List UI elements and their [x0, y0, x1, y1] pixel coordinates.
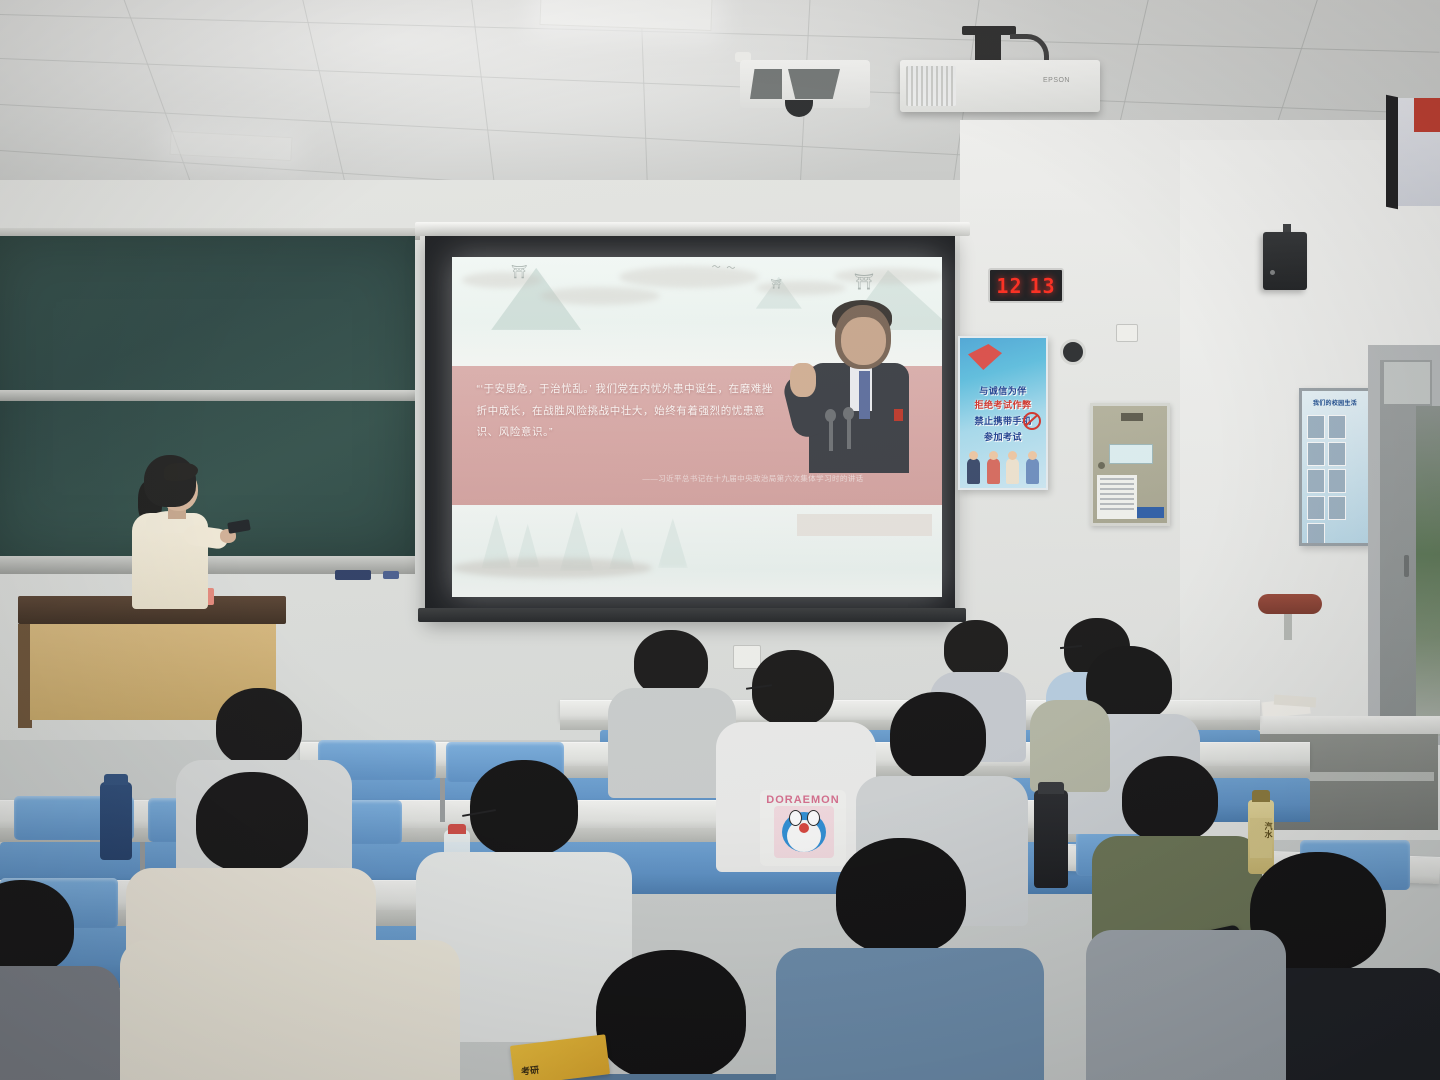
- slide-quote-text: “‘于安思危，于治忧乱。’ 我们党在内忧外患中诞生，在磨难挫折中成长，在战胜风险…: [477, 379, 781, 444]
- bottle-label-text: 汽水: [1248, 822, 1274, 838]
- portrait-microphone-icon: [843, 407, 854, 420]
- display-board-title: 我们的校园生活: [1302, 398, 1368, 407]
- portrait-microphone-icon: [825, 409, 836, 422]
- student-head: [596, 950, 746, 1080]
- side-counter-top: [1246, 716, 1440, 734]
- student-head: [470, 760, 578, 856]
- wall-display-bezel: [1386, 95, 1398, 210]
- bottle-cap-icon: [1252, 790, 1270, 802]
- student-jacket: [1086, 930, 1286, 1080]
- doraemon-text: DORAEMON: [760, 794, 846, 806]
- screen-bottom-weight-bar: [418, 608, 966, 622]
- student-shirt: [1030, 700, 1110, 792]
- student-jacket: [0, 966, 120, 1080]
- slide-speaker-portrait: [785, 305, 932, 536]
- slide-mist: [452, 558, 652, 578]
- slide-cloud-icon: [756, 281, 846, 295]
- clock-minutes: 13: [1030, 274, 1056, 298]
- projection-screen-image: ⛩ ⛩ ⛩ 〜 〜 “‘于安思危，于治忧乱。’ 我们党在内忧外患中诞生，在磨难挫…: [452, 257, 942, 597]
- student-head: [1122, 756, 1218, 842]
- ceiling-projector: EPSON: [900, 60, 1100, 112]
- slide-pagoda-icon: ⛩: [854, 272, 874, 292]
- desk-leg: [440, 778, 445, 822]
- board-photo: [1307, 469, 1325, 493]
- student-head: [836, 838, 966, 954]
- portrait-badge: [894, 409, 903, 421]
- poster-line-4: 参加考试: [960, 430, 1046, 443]
- wall-hook-icon: [1284, 614, 1292, 640]
- poster-ribbon-icon: [968, 344, 1002, 370]
- board-photo: [1328, 442, 1346, 466]
- student-head: [196, 772, 308, 872]
- board-photo: [1328, 496, 1346, 520]
- camera-panel-left: [750, 69, 782, 99]
- board-photo: [1307, 415, 1325, 439]
- water-bottle[interactable]: [100, 782, 132, 860]
- poster-line-2: 拒绝考试作弊: [960, 398, 1046, 411]
- student-head: [944, 620, 1008, 678]
- classroom-photo: EPSON ⛩ ⛩ ⛩ 〜 〜: [0, 0, 1440, 1080]
- projector-brand-label: EPSON: [1043, 77, 1070, 84]
- textbook-title: 考研: [520, 1063, 539, 1078]
- slide-cloud-icon: [619, 266, 759, 288]
- cabinet-lock-icon[interactable]: [1098, 462, 1105, 469]
- clock-hours: 12: [996, 274, 1022, 298]
- portrait-microphone-icon: [829, 417, 833, 451]
- poster-student-icon: [987, 458, 1000, 484]
- chalk-piece[interactable]: [383, 571, 399, 579]
- poster-student-icon: [1026, 458, 1039, 484]
- electrical-cabinet[interactable]: [1090, 403, 1170, 526]
- clock-display: 12 13: [990, 270, 1062, 301]
- wall-speaker: [1263, 232, 1307, 290]
- presenter: [128, 455, 224, 605]
- blackboard-middle-rail: [0, 390, 415, 401]
- display-board-photo-grid: [1307, 415, 1363, 546]
- poster-student-icon: [967, 458, 980, 484]
- door-opening-outside-view: [1416, 406, 1440, 736]
- water-bottle[interactable]: [1034, 790, 1068, 888]
- bottle-cap-icon: [1038, 782, 1064, 794]
- student-head: [634, 630, 708, 696]
- speaker-led-icon: [1270, 270, 1275, 275]
- projector-vent: [906, 66, 956, 106]
- wall-socket[interactable]: [1116, 324, 1138, 342]
- board-photo: [1328, 469, 1346, 493]
- student-jacket: [776, 948, 1044, 1080]
- beverage-bottle[interactable]: 汽水: [1248, 800, 1274, 874]
- door-transom-window: [1384, 362, 1430, 404]
- wall-socket[interactable]: [733, 645, 761, 669]
- portrait-microphone-icon: [847, 415, 851, 449]
- cabinet-notice: [1097, 475, 1137, 519]
- no-phone-icon: [1023, 412, 1041, 430]
- smoke-detector-icon: [1060, 339, 1086, 365]
- board-photo: [1307, 496, 1325, 520]
- student-jacket: [120, 940, 460, 1080]
- doraemon-hoodie-graphic: DORAEMON: [760, 790, 846, 866]
- poster-students-illustration: [964, 450, 1042, 484]
- doraemon-nose-icon: [799, 823, 809, 833]
- board-photo: [1307, 442, 1325, 466]
- exam-integrity-poster: 与诚信为伴 拒绝考试作弊 禁止携带手机 参加考试: [958, 336, 1048, 490]
- slide-pagoda-icon: ⛩: [511, 264, 528, 280]
- cabinet-blue-tag: [1137, 507, 1164, 518]
- slide-bird-icon: 〜: [726, 261, 735, 274]
- bottle-cap-icon: [448, 824, 466, 834]
- rolled-red-item: [1258, 594, 1322, 614]
- slide-pagoda-icon: ⛩: [771, 279, 782, 290]
- doraemon-eye-icon: [807, 810, 820, 826]
- cabinet-vent: [1121, 413, 1143, 421]
- board-photo: [1307, 523, 1325, 546]
- portrait-face: [841, 317, 886, 365]
- student-head: [752, 650, 834, 726]
- door-handle-icon[interactable]: [1404, 555, 1409, 577]
- slide-cloud-icon: [834, 268, 942, 284]
- portrait-hand: [790, 363, 816, 397]
- blackboard-eraser[interactable]: [335, 570, 371, 580]
- student-head: [890, 692, 986, 780]
- poster-student-icon: [1006, 458, 1019, 484]
- portrait-desk: [797, 514, 932, 536]
- campus-life-display-board: 我们的校园生活: [1299, 388, 1371, 546]
- cabinet-label: [1109, 444, 1153, 464]
- poster-line-1: 与诚信为伴: [960, 384, 1046, 397]
- board-photo: [1328, 415, 1346, 439]
- wall-display-red-band: [1414, 98, 1440, 132]
- slide-tree-icon: [658, 518, 688, 568]
- camera-panel-right: [788, 69, 840, 99]
- student-head: [216, 688, 302, 766]
- screen-roller-housing[interactable]: [415, 222, 970, 236]
- portrait-tie: [859, 371, 870, 419]
- digital-wall-clock: 12 13: [988, 268, 1064, 303]
- bottle-cap-icon: [104, 774, 128, 785]
- slide-bird-icon: 〜: [712, 260, 721, 273]
